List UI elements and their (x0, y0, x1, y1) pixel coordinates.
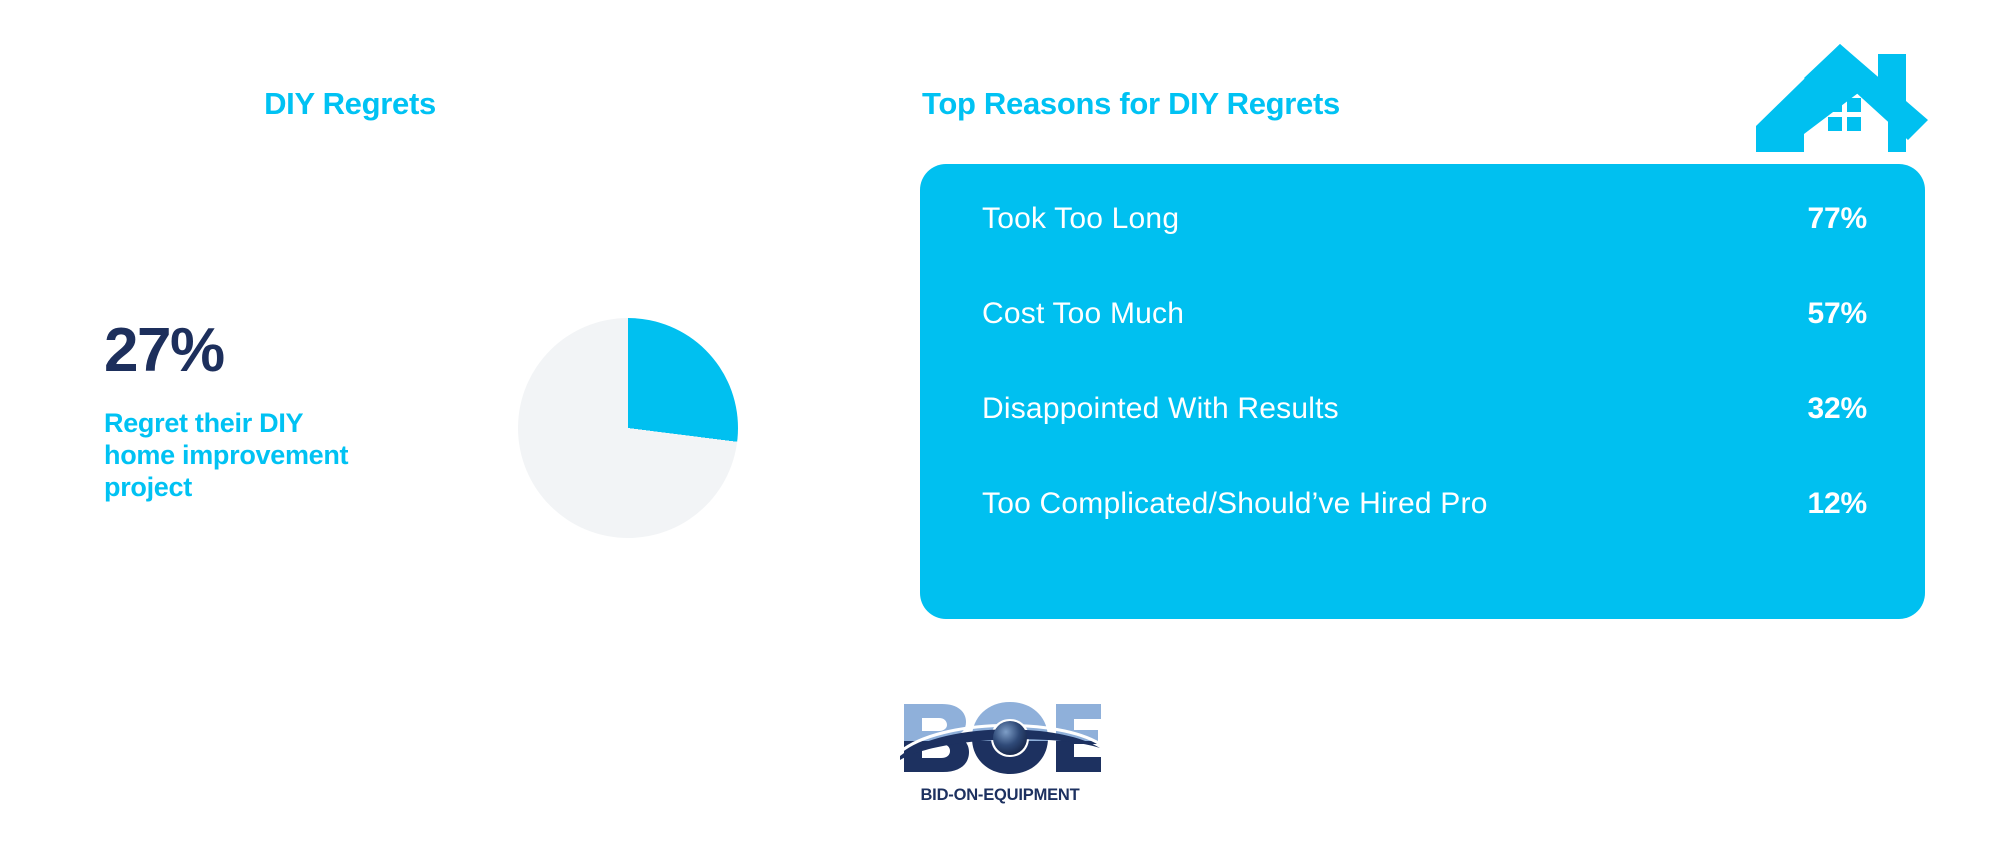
stat-value: 27% (104, 320, 434, 382)
reason-value: 57% (1808, 297, 1867, 331)
reason-row: Too Complicated/Should’ve Hired Pro12% (982, 487, 1867, 582)
reasons-list: Took Too Long77%Cost Too Much57%Disappoi… (982, 202, 1867, 582)
reason-row: Disappointed With Results32% (982, 392, 1867, 487)
reason-label: Too Complicated/Should’ve Hired Pro (982, 487, 1488, 521)
right-section-title: Top Reasons for DIY Regrets (922, 86, 1340, 122)
reason-row: Cost Too Much57% (982, 297, 1867, 392)
pie-chart-slices (518, 318, 738, 538)
house-icon (1742, 22, 1952, 152)
stat-caption: Regret their DIY home improvement projec… (104, 408, 434, 504)
reason-value: 77% (1808, 202, 1867, 236)
left-section-title: DIY Regrets (140, 86, 560, 122)
reason-label: Disappointed With Results (982, 392, 1339, 426)
logo-wordmark: BID-ON-EQUIPMENT (898, 786, 1102, 805)
reason-value: 32% (1808, 392, 1867, 426)
reason-label: Cost Too Much (982, 297, 1184, 331)
reason-row: Took Too Long77% (982, 202, 1867, 297)
reasons-panel: Took Too Long77%Cost Too Much57%Disappoi… (920, 164, 1925, 619)
reason-label: Took Too Long (982, 202, 1179, 236)
boe-logo: BID-ON-EQUIPMENT (898, 700, 1102, 810)
reason-value: 12% (1808, 487, 1867, 521)
stat-block: 27% Regret their DIY home improvement pr… (104, 320, 434, 504)
pie-chart (518, 318, 738, 538)
infographic-canvas: DIY Regrets 27% Regret their DIY home im… (0, 0, 2000, 858)
boe-logo-mark (898, 700, 1102, 784)
